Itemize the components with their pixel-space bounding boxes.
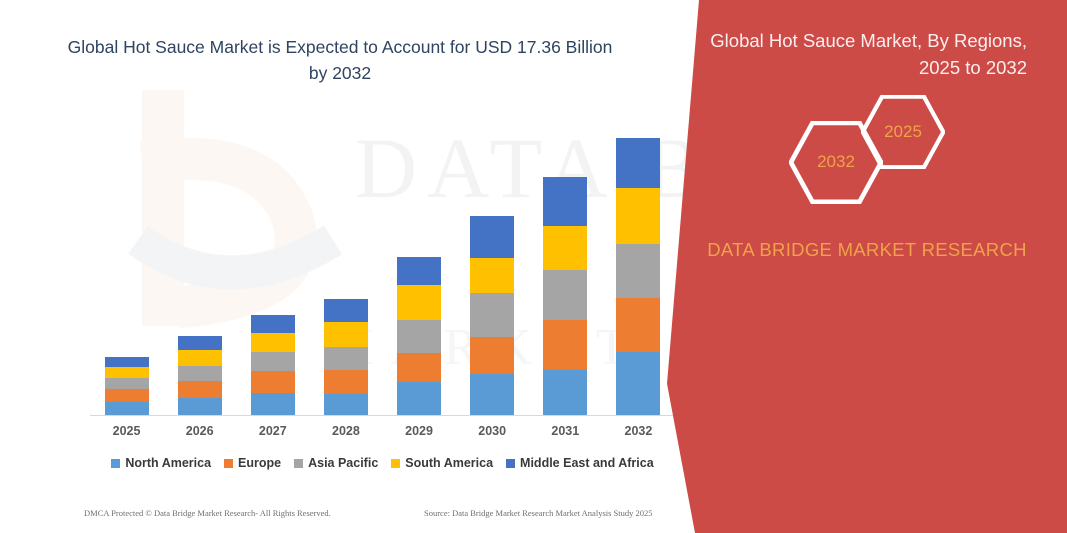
- stacked-bar: [324, 299, 368, 415]
- stacked-bar: [251, 315, 295, 415]
- stacked-bar: [470, 216, 514, 415]
- legend-swatch-icon: [111, 459, 120, 468]
- bar-segment: [470, 337, 514, 374]
- x-axis-tick-label: 2025: [90, 424, 163, 438]
- x-axis-labels: 20252026202720282029203020312032: [90, 424, 675, 438]
- x-axis-tick-label: 2029: [383, 424, 456, 438]
- bar-segment: [178, 366, 222, 381]
- bar-segment: [543, 226, 587, 270]
- footer-copyright: DMCA Protected © Data Bridge Market Rese…: [84, 508, 331, 518]
- bar-segment: [178, 350, 222, 366]
- bar-segment: [324, 322, 368, 347]
- bar-column: [602, 120, 675, 415]
- legend-label: Europe: [238, 456, 281, 470]
- bar-segment: [105, 389, 149, 402]
- infographic-root: DATA BRIDGE MARKET RESEARCH Global Hot S…: [0, 0, 1067, 533]
- legend-item[interactable]: Europe: [224, 456, 281, 470]
- bar-segment: [616, 138, 660, 188]
- legend-item[interactable]: Middle East and Africa: [506, 456, 654, 470]
- hexagon-badge-2032: 2032: [789, 121, 883, 203]
- x-axis-line: [90, 415, 675, 416]
- stacked-bar: [178, 336, 222, 415]
- legend-swatch-icon: [506, 459, 515, 468]
- x-axis-tick-label: 2026: [163, 424, 236, 438]
- bar-segment: [616, 298, 660, 352]
- bar-segment: [105, 402, 149, 415]
- hexagon-badge-2025-label: 2025: [884, 122, 922, 142]
- x-axis-tick-label: 2027: [236, 424, 309, 438]
- bar-segment: [397, 257, 441, 285]
- x-axis-tick-label: 2030: [456, 424, 529, 438]
- x-axis-tick-label: 2031: [529, 424, 602, 438]
- bar-segment: [616, 244, 660, 298]
- legend-label: South America: [405, 456, 493, 470]
- x-axis-tick-label: 2028: [309, 424, 382, 438]
- footer: DMCA Protected © Data Bridge Market Rese…: [0, 508, 700, 528]
- bar-group: [90, 120, 675, 415]
- legend-label: Middle East and Africa: [520, 456, 654, 470]
- bar-segment: [324, 299, 368, 322]
- bar-segment: [324, 347, 368, 370]
- bar-segment: [324, 394, 368, 415]
- stacked-bar: [397, 257, 441, 415]
- legend-item[interactable]: Asia Pacific: [294, 456, 378, 470]
- bar-segment: [251, 371, 295, 393]
- bar-segment: [470, 258, 514, 293]
- legend-item[interactable]: South America: [391, 456, 493, 470]
- bar-segment: [251, 333, 295, 352]
- bar-segment: [251, 393, 295, 415]
- bar-segment: [397, 382, 441, 415]
- bar-segment: [616, 352, 660, 415]
- bar-segment: [178, 398, 222, 415]
- bar-segment: [251, 315, 295, 333]
- bar-segment: [543, 270, 587, 320]
- footer-source: Source: Data Bridge Market Research Mark…: [424, 508, 653, 518]
- bar-segment: [324, 370, 368, 394]
- stacked-bar: [616, 138, 660, 415]
- legend-swatch-icon: [294, 459, 303, 468]
- bar-segment: [543, 177, 587, 226]
- bar-segment: [105, 357, 149, 367]
- bar-column: [90, 120, 163, 415]
- stacked-bar: [105, 357, 149, 415]
- bar-segment: [470, 374, 514, 415]
- bar-segment: [470, 293, 514, 337]
- legend-item[interactable]: North America: [111, 456, 211, 470]
- bar-segment: [543, 370, 587, 415]
- hexagon-badges: 2025 2032: [777, 95, 1047, 205]
- panel-brand-name: DATA BRIDGE MARKET RESEARCH: [707, 236, 1027, 264]
- bar-segment: [397, 320, 441, 353]
- legend-label: North America: [125, 456, 211, 470]
- bar-segment: [105, 367, 149, 378]
- bar-segment: [470, 216, 514, 258]
- bar-segment: [251, 352, 295, 371]
- bar-segment: [397, 353, 441, 382]
- hexagon-badge-2032-label: 2032: [817, 152, 855, 172]
- legend-label: Asia Pacific: [308, 456, 378, 470]
- stacked-bar: [543, 177, 587, 415]
- bar-segment: [105, 378, 149, 389]
- bar-column: [383, 120, 456, 415]
- bar-segment: [543, 320, 587, 370]
- side-panel: Global Hot Sauce Market, By Regions, 202…: [667, 0, 1067, 533]
- bar-segment: [178, 336, 222, 350]
- page-title: Global Hot Sauce Market is Expected to A…: [60, 34, 620, 87]
- bar-segment: [616, 188, 660, 244]
- bar-column: [529, 120, 602, 415]
- bar-column: [163, 120, 236, 415]
- panel-title: Global Hot Sauce Market, By Regions, 202…: [707, 28, 1027, 82]
- x-axis-tick-label: 2032: [602, 424, 675, 438]
- bar-segment: [397, 285, 441, 320]
- legend-swatch-icon: [224, 459, 233, 468]
- bar-column: [456, 120, 529, 415]
- legend-swatch-icon: [391, 459, 400, 468]
- bar-segment: [178, 381, 222, 398]
- bar-column: [236, 120, 309, 415]
- bar-column: [309, 120, 382, 415]
- chart-legend: North AmericaEuropeAsia PacificSouth Ame…: [90, 456, 675, 470]
- stacked-bar-chart: [90, 120, 675, 416]
